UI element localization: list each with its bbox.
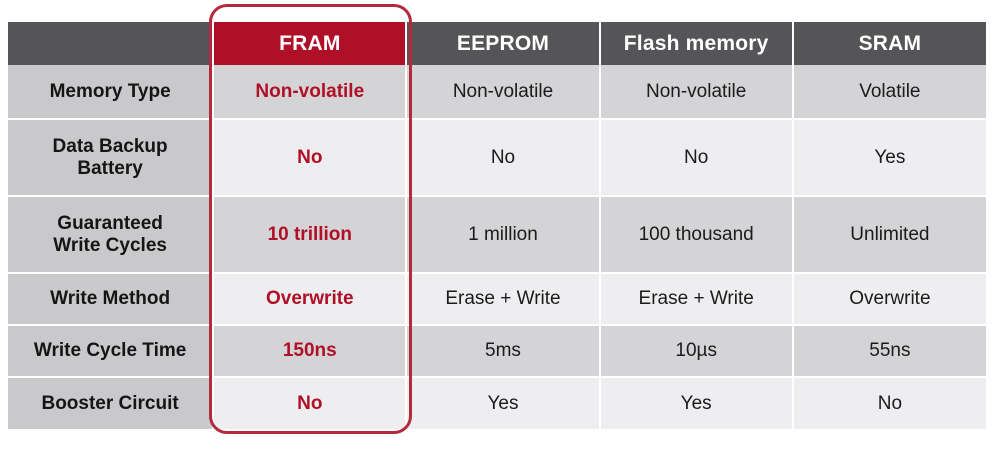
cell-flash-guaranteed-write-cycles: 100 thousand — [600, 196, 793, 273]
cell-sram-memory-type: Volatile — [793, 65, 986, 119]
cell-flash-data-backup-battery: No — [600, 119, 793, 196]
row-label-line-2: Battery — [77, 158, 142, 179]
cell-fram-write-method: Overwrite — [213, 273, 406, 325]
cell-flash-write-cycle-time: 10µs — [600, 325, 793, 377]
cell-eeprom-booster-circuit: Yes — [406, 377, 599, 429]
table-row: Data BackupBattery No No No Yes — [8, 119, 986, 196]
table-header: FRAM EEPROM Flash memory SRAM — [8, 22, 986, 65]
table-row: Write Method Overwrite Erase + Write Era… — [8, 273, 986, 325]
header-row: FRAM EEPROM Flash memory SRAM — [8, 22, 986, 65]
row-label-memory-type: Memory Type — [8, 65, 213, 119]
row-label-write-cycle-time: Write Cycle Time — [8, 325, 213, 377]
row-label-guaranteed-write-cycles: GuaranteedWrite Cycles — [8, 196, 213, 273]
row-label-line-1: Guaranteed — [57, 213, 163, 234]
header-cell-eeprom: EEPROM — [406, 22, 599, 65]
cell-fram-booster-circuit: No — [213, 377, 406, 429]
header-cell-fram: FRAM — [213, 22, 406, 65]
table-row: Booster Circuit No Yes Yes No — [8, 377, 986, 429]
row-label-line-2: Write Cycles — [53, 235, 167, 256]
table-row: Write Cycle Time 150ns 5ms 10µs 55ns — [8, 325, 986, 377]
table-row: GuaranteedWrite Cycles 10 trillion 1 mil… — [8, 196, 986, 273]
cell-eeprom-write-cycle-time: 5ms — [406, 325, 599, 377]
cell-fram-guaranteed-write-cycles: 10 trillion — [213, 196, 406, 273]
cell-eeprom-guaranteed-write-cycles: 1 million — [406, 196, 599, 273]
row-label-booster-circuit: Booster Circuit — [8, 377, 213, 429]
table-body: Memory Type Non-volatile Non-volatile No… — [8, 65, 986, 429]
row-label-data-backup-battery: Data BackupBattery — [8, 119, 213, 196]
row-label-line-1: Data Backup — [53, 136, 168, 157]
cell-sram-write-cycle-time: 55ns — [793, 325, 986, 377]
cell-fram-data-backup-battery: No — [213, 119, 406, 196]
cell-fram-memory-type: Non-volatile — [213, 65, 406, 119]
cell-sram-booster-circuit: No — [793, 377, 986, 429]
header-cell-attribute — [8, 22, 213, 65]
cell-eeprom-data-backup-battery: No — [406, 119, 599, 196]
cell-sram-write-method: Overwrite — [793, 273, 986, 325]
cell-eeprom-write-method: Erase + Write — [406, 273, 599, 325]
header-cell-flash-memory: Flash memory — [600, 22, 793, 65]
cell-flash-booster-circuit: Yes — [600, 377, 793, 429]
cell-sram-data-backup-battery: Yes — [793, 119, 986, 196]
row-label-write-method: Write Method — [8, 273, 213, 325]
table-row: Memory Type Non-volatile Non-volatile No… — [8, 65, 986, 119]
cell-flash-write-method: Erase + Write — [600, 273, 793, 325]
cell-sram-guaranteed-write-cycles: Unlimited — [793, 196, 986, 273]
cell-flash-memory-type: Non-volatile — [600, 65, 793, 119]
memory-comparison-table: FRAM EEPROM Flash memory SRAM Memory Typ… — [8, 22, 986, 429]
cell-fram-write-cycle-time: 150ns — [213, 325, 406, 377]
comparison-table-figure: FRAM EEPROM Flash memory SRAM Memory Typ… — [0, 0, 994, 449]
header-cell-sram: SRAM — [793, 22, 986, 65]
cell-eeprom-memory-type: Non-volatile — [406, 65, 599, 119]
